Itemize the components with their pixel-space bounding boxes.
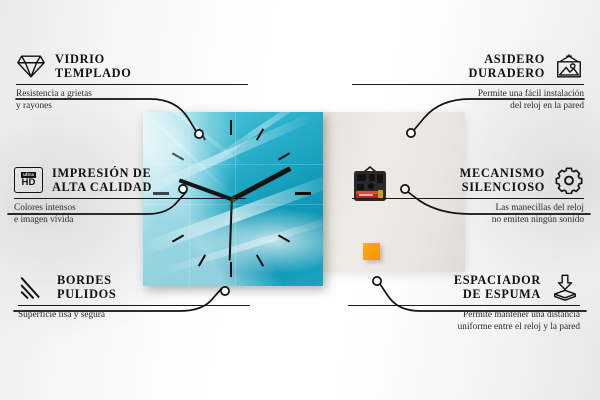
connector-node	[195, 130, 203, 138]
feature-desc-line2: e imagen vívida	[14, 215, 73, 225]
feature-desc-line2: del reloj en la pared	[510, 101, 584, 111]
feature-title-line2: DE ESPUMA	[463, 287, 541, 301]
feature-title-line1: VIDRIO	[55, 52, 105, 66]
feature-title: VIDRIO TEMPLADO	[55, 52, 131, 80]
feature-desc-line2: uniforme entre el reloj y la pared	[458, 322, 580, 332]
feature-title: ESPACIADOR DE ESPUMA	[454, 273, 541, 301]
feature-desc-line2: no emiten ningún sonido	[492, 215, 584, 225]
divider	[18, 305, 250, 306]
diamond-icon	[16, 53, 46, 80]
feature-desc-line2: y rayones	[16, 101, 52, 111]
feature-header: ASIDERO DURADERO	[352, 52, 584, 80]
feature-title-line2: TEMPLADO	[55, 66, 131, 80]
feature-vidrio-templado: VIDRIO TEMPLADO Resistencia a grietas y …	[16, 52, 248, 112]
feature-title: MECANISMO SILENCIOSO	[460, 166, 545, 194]
feature-desc-line1: Permite mantener una distancia	[463, 310, 580, 320]
feature-desc-line1: Permite una fácil instalación	[478, 89, 584, 99]
feature-title-line2: SILENCIOSO	[462, 180, 545, 194]
feature-description: Permite mantener una distancia uniforme …	[348, 310, 580, 333]
feature-header: ESPACIADOR DE ESPUMA	[348, 273, 580, 301]
feature-title: BORDES PULIDOS	[57, 273, 116, 301]
ultra-hd-icon: ultra HD	[14, 167, 43, 193]
ultra-hd-icon-main-text: HD	[21, 178, 35, 188]
feature-title-line1: MECANISMO	[460, 166, 545, 180]
divider	[16, 84, 248, 85]
feature-desc-line1: Resistencia a grietas	[16, 89, 92, 99]
polished-edges-icon	[18, 274, 48, 301]
feature-description: Superficie lisa y segura	[18, 310, 250, 321]
feature-title-line1: IMPRESIÓN DE	[52, 166, 151, 180]
feature-title-line2: PULIDOS	[57, 287, 116, 301]
feature-asidero-duradero: ASIDERO DURADERO Permite una fácil insta…	[352, 52, 584, 112]
feature-title-line1: ASIDERO	[484, 52, 545, 66]
feature-desc-line1: Las manecillas del reloj	[495, 203, 584, 213]
feature-espaciador-espuma: ESPACIADOR DE ESPUMA Permite mantener un…	[348, 273, 580, 333]
picture-frame-hanger-icon	[554, 53, 584, 80]
feature-title: ASIDERO DURADERO	[469, 52, 545, 80]
connector-node	[407, 129, 415, 137]
divider	[348, 305, 580, 306]
feature-title-line1: BORDES	[57, 273, 112, 287]
divider	[352, 198, 584, 199]
divider	[14, 198, 246, 199]
feature-title: IMPRESIÓN DE ALTA CALIDAD	[52, 166, 152, 194]
divider	[352, 84, 584, 85]
feature-header: ultra HD IMPRESIÓN DE ALTA CALIDAD	[14, 166, 246, 194]
feature-mecanismo-silencioso: MECANISMO SILENCIOSO Las manecillas del …	[352, 166, 584, 226]
feature-header: MECANISMO SILENCIOSO	[352, 166, 584, 194]
feature-desc-line1: Colores intensos	[14, 203, 76, 213]
feature-description: Las manecillas del reloj no emiten ningú…	[352, 203, 584, 226]
feature-impresion-alta-calidad: ultra HD IMPRESIÓN DE ALTA CALIDAD Color…	[14, 166, 246, 226]
foam-spacer-arrow-icon	[550, 274, 580, 301]
feature-description: Resistencia a grietas y rayones	[16, 89, 248, 112]
feature-title-line2: ALTA CALIDAD	[52, 180, 152, 194]
feature-title-line1: ESPACIADOR	[454, 273, 541, 287]
feature-description: Colores intensos e imagen vívida	[14, 203, 246, 226]
gear-icon	[554, 167, 584, 194]
feature-header: BORDES PULIDOS	[18, 273, 250, 301]
feature-desc-line1: Superficie lisa y segura	[18, 310, 105, 320]
feature-description: Permite una fácil instalación del reloj …	[352, 89, 584, 112]
feature-bordes-pulidos: BORDES PULIDOS Superficie lisa y segura	[18, 273, 250, 322]
feature-header: VIDRIO TEMPLADO	[16, 52, 248, 80]
feature-title-line2: DURADERO	[469, 66, 545, 80]
infographic-canvas: VIDRIO TEMPLADO Resistencia a grietas y …	[0, 0, 600, 400]
